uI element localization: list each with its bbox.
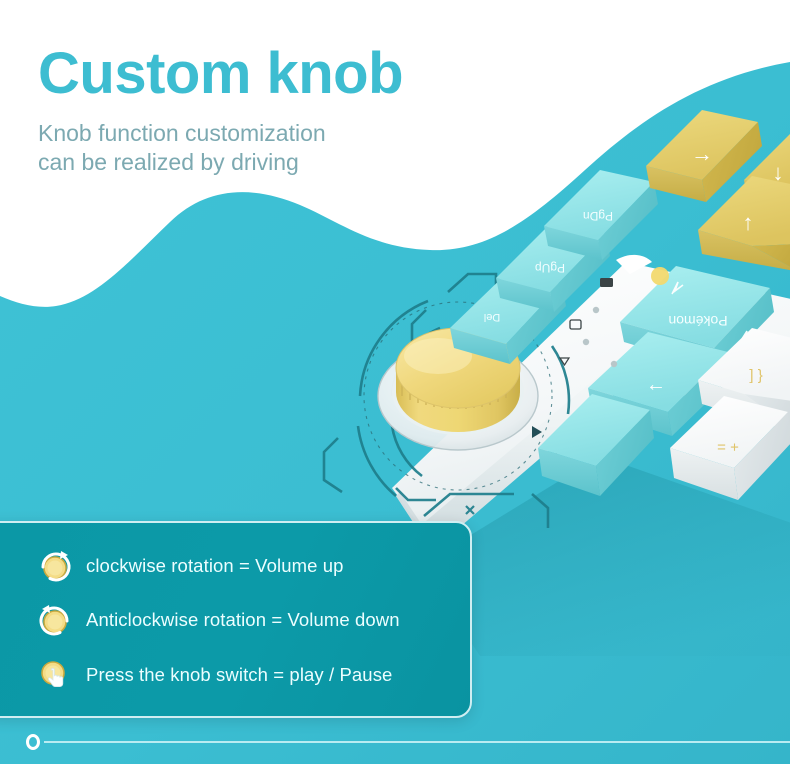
press-knob-hand-icon [36,656,74,694]
legend-callout: clockwise rotation = Volume up Anticlock… [0,521,472,718]
bottom-bar [0,720,790,764]
legend-item-anticlockwise: Anticlockwise rotation = Volume down [36,597,460,643]
keycap-label-bracket: { [ [749,368,763,385]
keycap-label-pgup: PgUp [535,261,565,275]
usb-indicator-icon [600,278,613,287]
legend-item-clockwise: clockwise rotation = Volume up [36,543,460,589]
promo-banner: Custom knob Knob function customization … [0,0,790,764]
keycap-label-plus-equals: + = [717,438,739,455]
legend-label-press: Press the knob switch = play / Pause [86,664,392,686]
keycap-label-arrow-down: ↓ [743,213,754,238]
clockwise-rotation-icon [36,547,74,585]
bottom-bar-line [44,741,790,743]
legend-label-anticlockwise: Anticlockwise rotation = Volume down [86,609,400,631]
legend-label-clockwise: clockwise rotation = Volume up [86,555,344,577]
keycap-pgdn[interactable]: PgDn [544,170,658,260]
pikachu-badge-icon [651,267,669,285]
bottom-bar-dot-icon [26,734,40,750]
legend-item-press: Press the knob switch = play / Pause [36,652,460,698]
keycap-label-pokemon: Pokémon [668,313,727,329]
anticlockwise-rotation-icon [36,601,74,639]
keycap-label-del: Del [484,311,501,323]
keycap-label-pgdn: PgDn [583,209,613,223]
keycap-label-arrow-left: ← [691,149,713,174]
keycap-label-arrow-right: → [646,379,666,401]
